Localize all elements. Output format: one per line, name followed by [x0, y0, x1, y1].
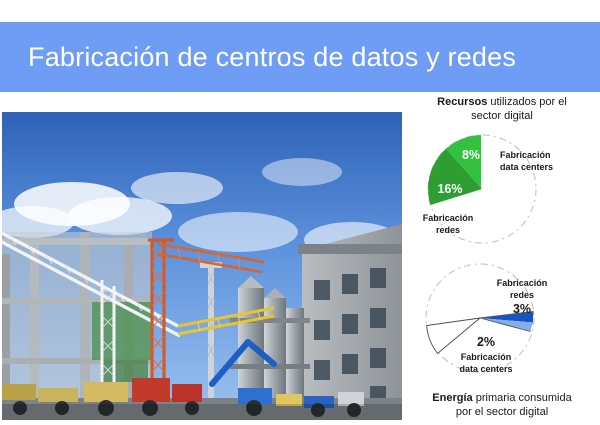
- energy-caption-keyword: Energía: [432, 392, 472, 404]
- resources-caption-keyword: Recursos: [437, 96, 487, 108]
- label-data-centers-line2: data centers: [500, 162, 553, 172]
- label-data-centers-line1: Fabricación: [461, 352, 512, 362]
- resources-chart-caption: Recursos utilizados por el sector digita…: [404, 96, 600, 124]
- label-16pct: 16%: [437, 182, 462, 196]
- energy-chart-caption: Energía primaria consumida por el sector…: [404, 392, 600, 420]
- resources-caption-rest: utilizados por el: [490, 96, 566, 108]
- label-redes-line1: Fabricación: [497, 278, 548, 288]
- energy-caption-rest: primaria consumida: [476, 392, 572, 404]
- photo-illustration: [2, 112, 402, 420]
- label-3pct: 3%: [513, 302, 531, 316]
- label-data-centers-line1: Fabricación: [500, 150, 551, 160]
- charts-column: Recursos utilizados por el sector digita…: [404, 96, 600, 421]
- page-title: Fabricación de centros de datos y redes: [0, 42, 516, 73]
- resources-caption-line2: sector digital: [471, 110, 533, 122]
- label-data-centers-line2: data centers: [459, 364, 512, 374]
- slide-canvas: Fabricación de centros de datos y redes: [0, 0, 600, 425]
- label-redes-line2: redes: [436, 225, 460, 235]
- resources-pie-chart: 8% 16% Fabricación data centers Fabricac…: [404, 130, 600, 254]
- label-2pct: 2%: [477, 335, 495, 349]
- label-8pct: 8%: [462, 148, 480, 162]
- slide-title-band: Fabricación de centros de datos y redes: [0, 22, 600, 92]
- energy-caption-line2: por el sector digital: [456, 406, 548, 418]
- label-redes-line2: redes: [510, 290, 534, 300]
- label-redes-line1: Fabricación: [423, 213, 474, 223]
- resources-pie-svg: 8% 16% Fabricación data centers Fabricac…: [404, 130, 600, 254]
- construction-site-cranes-photo: 13 Fuente: Informe GreenIT.fr "Huella am…: [2, 112, 402, 420]
- energy-pie-svg: Fabricación redes 3% 2% Fabricación data…: [404, 256, 600, 386]
- energy-pie-chart: Fabricación redes 3% 2% Fabricación data…: [404, 256, 600, 386]
